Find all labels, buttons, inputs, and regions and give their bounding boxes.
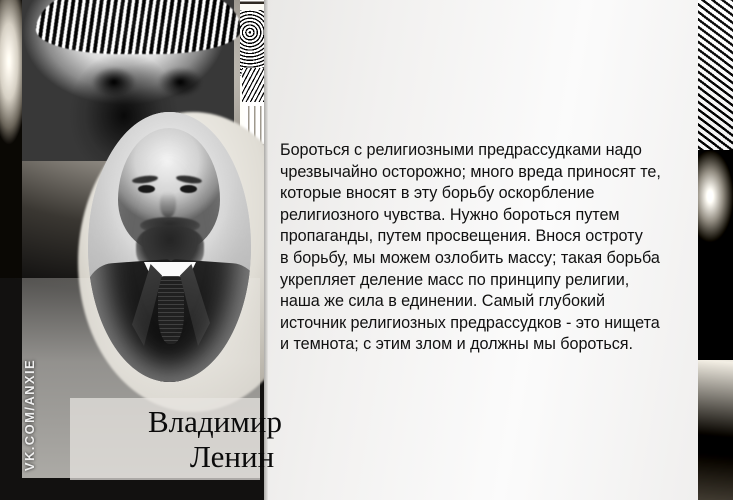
bust-hair-detail: [36, 0, 241, 54]
attribution-last-name: Ленин: [130, 439, 334, 474]
attribution: Владимир Ленин: [96, 404, 334, 474]
quote-text: Бороться с религиозными предрассудками н…: [280, 140, 692, 356]
attribution-first-name: Владимир: [96, 404, 334, 439]
watermark-vk-link: VK.COM/ANXIE: [19, 339, 41, 491]
bust-eyes-detail: [88, 64, 206, 100]
quote-image-canvas: Бороться с религиозными предрассудками н…: [0, 0, 733, 500]
left-photo-sliver: [0, 0, 22, 278]
portrait-oval-vignette: [88, 112, 251, 382]
lenin-portrait: [88, 112, 251, 382]
